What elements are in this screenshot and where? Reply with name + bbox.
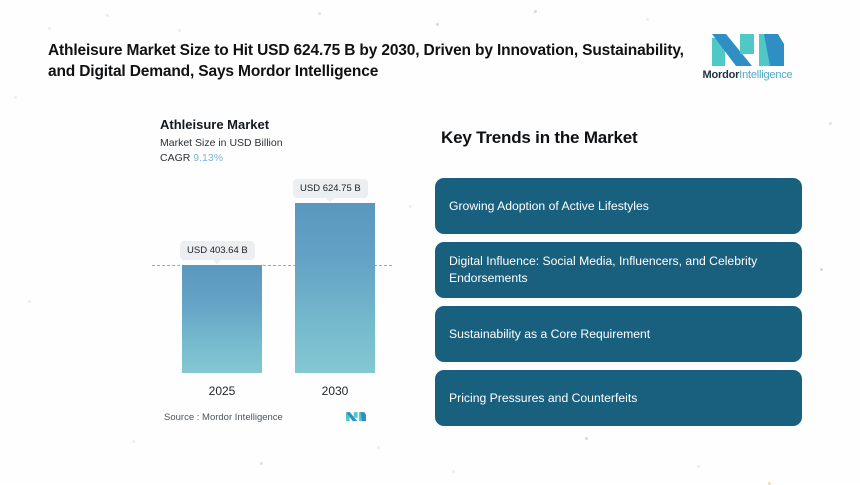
decor-speck <box>14 96 17 99</box>
trends-list: Growing Adoption of Active Lifestyles Di… <box>435 178 802 434</box>
decor-speck <box>28 300 31 303</box>
decor-speck <box>106 14 109 17</box>
brand-wordmark: MordorIntelligence <box>700 69 795 81</box>
decor-speck <box>829 122 832 125</box>
poster-canvas: Athleisure Market Size to Hit USD 624.75… <box>0 0 860 484</box>
source-logo-icon <box>346 409 366 421</box>
mordor-intelligence-logo-icon <box>712 30 784 66</box>
x-axis-label-2030: 2030 <box>295 384 375 398</box>
trend-card[interactable]: Pricing Pressures and Counterfeits <box>435 370 802 426</box>
cagr-label: CAGR <box>160 152 190 164</box>
bar-value-label-2025: USD 403.64 B <box>180 241 255 260</box>
brand-logo: MordorIntelligence <box>700 30 795 88</box>
decor-speck <box>260 462 263 465</box>
trend-card[interactable]: Digital Influence: Social Media, Influen… <box>435 242 802 298</box>
decor-speck <box>436 23 439 26</box>
source-name: Mordor Intelligence <box>202 412 283 423</box>
decor-speck <box>132 440 135 443</box>
source-label: Source : <box>164 412 199 423</box>
page-title: Athleisure Market Size to Hit USD 624.75… <box>48 40 688 82</box>
brand-name-bold: Mordor <box>703 69 740 81</box>
decor-speck <box>409 205 412 208</box>
decor-speck <box>534 10 537 13</box>
chart-title: Athleisure Market <box>160 117 269 132</box>
bar-value-label-2030: USD 624.75 B <box>293 179 368 198</box>
cagr-value: 9.13% <box>193 152 223 164</box>
brand-name-light: Intelligence <box>739 69 792 81</box>
chart-subtitle: Market Size in USD Billion <box>160 137 283 149</box>
decor-speck <box>452 470 455 473</box>
trend-card[interactable]: Growing Adoption of Active Lifestyles <box>435 178 802 234</box>
decor-speck <box>646 18 649 21</box>
decor-speck <box>820 268 823 271</box>
bar-2030 <box>295 203 375 373</box>
bar-chart-plot: USD 403.64 B USD 624.75 B 2025 2030 <box>150 170 400 410</box>
chart-source: Source : Mordor Intelligence <box>164 412 283 423</box>
trend-card[interactable]: Sustainability as a Core Requirement <box>435 306 802 362</box>
decor-speck <box>377 446 380 449</box>
trends-heading: Key Trends in the Market <box>441 128 637 148</box>
decor-speck <box>48 27 51 30</box>
chart-cagr: CAGR 9.13% <box>160 152 223 164</box>
decor-speck <box>318 12 321 15</box>
x-axis-label-2025: 2025 <box>182 384 262 398</box>
decor-speck <box>585 437 588 440</box>
bar-2025 <box>182 265 262 373</box>
decor-speck <box>178 29 181 32</box>
decor-speck <box>697 465 700 468</box>
